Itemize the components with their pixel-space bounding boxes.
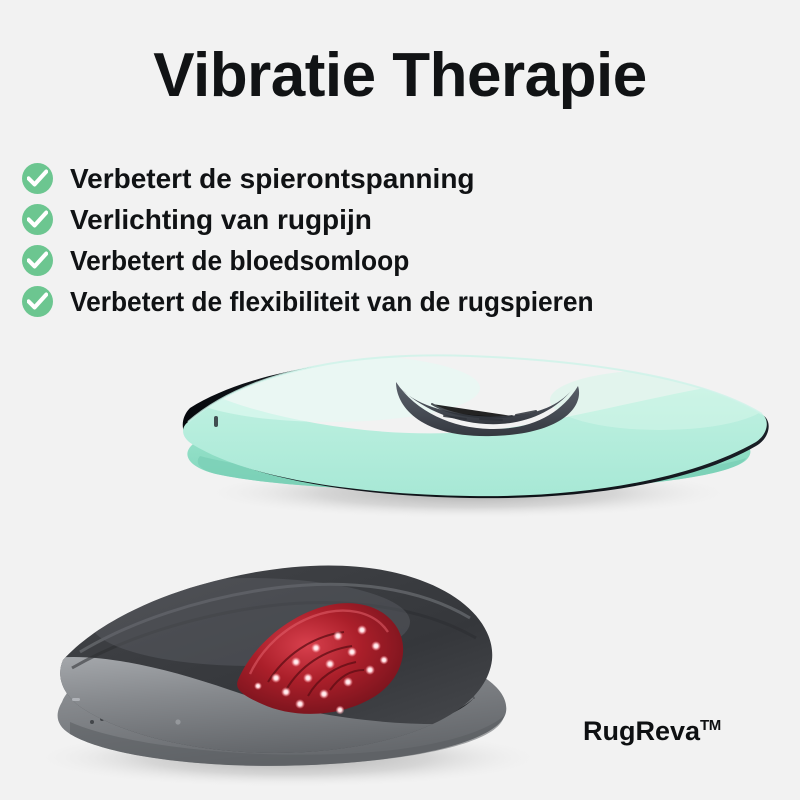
check-circle-icon (22, 163, 53, 194)
gray-indicator-slot (72, 698, 80, 701)
benefit-label: Verbetert de bloedsomloop (70, 246, 409, 276)
benefit-item: Verbetert de bloedsomloop (22, 240, 782, 281)
brand-logo: RugRevaTM (583, 716, 721, 746)
check-circle-icon (22, 204, 53, 235)
brand-name: RugReva (583, 716, 700, 746)
check-circle-icon (22, 286, 53, 317)
mint-power-button (214, 416, 218, 427)
benefit-label: Verlichting van rugpijn (70, 205, 372, 235)
benefits-list: Verbetert de spierontspanning Verlichtin… (22, 158, 782, 322)
page-title: Vibratie Therapie (0, 42, 800, 110)
benefit-item: Verlichting van rugpijn (22, 199, 782, 240)
check-circle-icon (22, 245, 53, 276)
benefit-item: Verbetert de flexibiliteit van de rugspi… (22, 281, 782, 322)
mint-massager-device (160, 338, 800, 519)
benefit-label: Verbetert de flexibiliteit van de rugspi… (70, 287, 594, 317)
gray-massager-device (30, 550, 546, 788)
gray-indicator-dot (175, 719, 180, 724)
benefit-label: Verbetert de spierontspanning (70, 164, 475, 194)
trademark-symbol: TM (700, 717, 721, 734)
benefit-item: Verbetert de spierontspanning (22, 158, 782, 199)
product-feature-card: Vibratie Therapie Verbetert de spieronts… (0, 0, 800, 800)
